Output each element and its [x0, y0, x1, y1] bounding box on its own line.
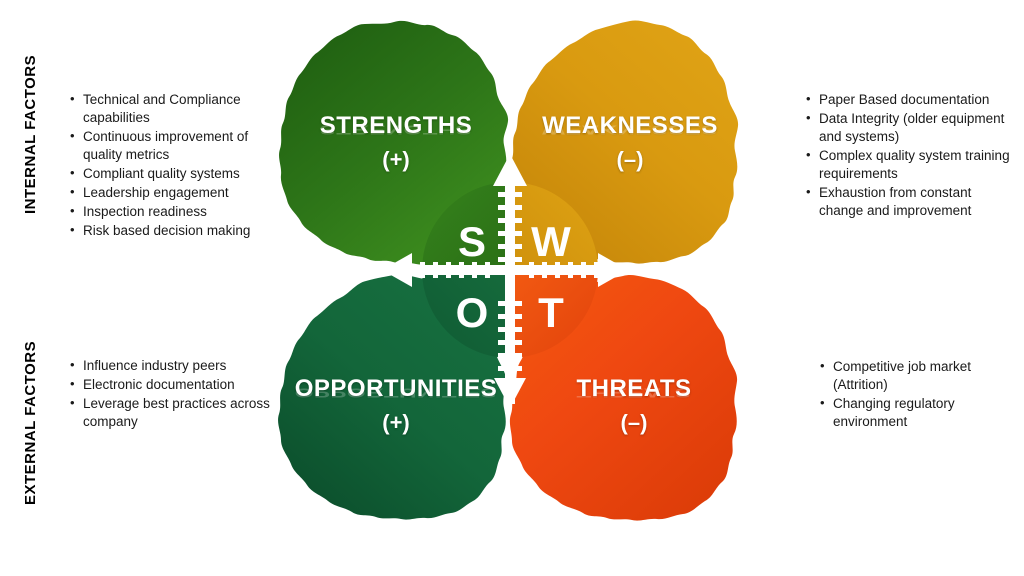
letter-o: O: [456, 289, 489, 336]
internal-factors-label: INTERNAL FACTORS: [22, 22, 39, 247]
list-item: Complex quality system training requirem…: [806, 147, 1011, 183]
external-factors-label: EXTERNAL FACTORS: [22, 300, 39, 545]
list-item: Compliant quality systems: [70, 165, 270, 183]
list-item: Paper Based documentation: [806, 91, 1011, 109]
list-item: Influence industry peers: [70, 357, 270, 375]
list-item: Competitive job market (Attrition): [820, 358, 1015, 394]
swot-center-wheel: S W O T: [420, 180, 600, 360]
list-item: Data Integrity (older equipment and syst…: [806, 110, 1011, 146]
weaknesses-bullet-list: Paper Based documentationData Integrity …: [806, 91, 1011, 221]
list-item: Risk based decision making: [70, 222, 270, 240]
letter-t: T: [538, 289, 564, 336]
letter-w: W: [531, 218, 571, 265]
list-item: Changing regulatory environment: [820, 395, 1015, 431]
list-item: Inspection readiness: [70, 203, 270, 221]
list-item: Technical and Compliance capabilities: [70, 91, 270, 127]
list-item: Electronic documentation: [70, 376, 270, 394]
list-item: Exhaustion from constant change and impr…: [806, 184, 1011, 220]
list-item: Continuous improvement of quality metric…: [70, 128, 270, 164]
opportunities-bullet-list: Influence industry peersElectronic docum…: [70, 357, 270, 432]
list-item: Leverage best practices across company: [70, 395, 270, 431]
list-item: Leadership engagement: [70, 184, 270, 202]
strengths-bullet-list: Technical and Compliance capabilitiesCon…: [70, 91, 270, 241]
letter-s: S: [458, 218, 486, 265]
threats-bullet-list: Competitive job market (Attrition)Changi…: [820, 358, 1015, 432]
